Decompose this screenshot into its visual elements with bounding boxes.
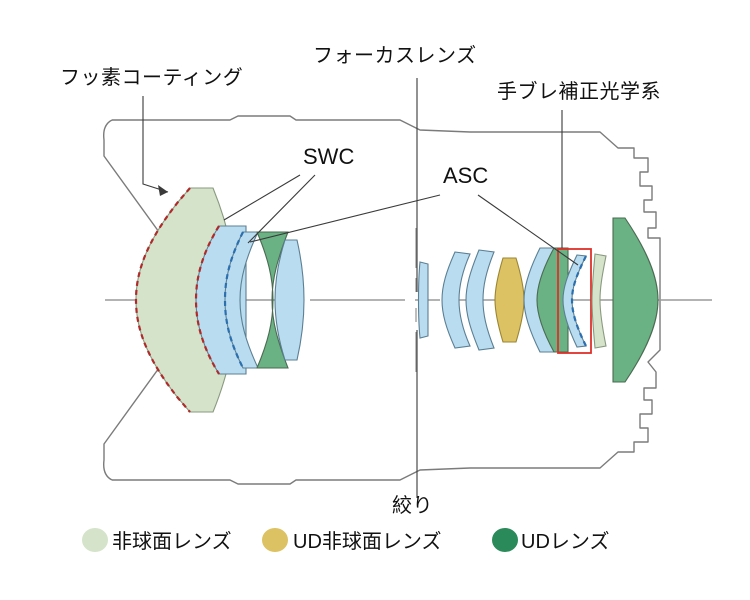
leader-fluorine [143,96,168,192]
legend-label-aspherical: 非球面レンズ [112,530,232,553]
lens-cross-section-svg: フッ素コーティング フォーカスレンズ 手ブレ補正光学系 SWC ASC 絞り 非… [0,0,750,600]
legend-item-aspherical: 非球面レンズ [82,528,232,553]
arrowhead-fluorine [158,185,168,196]
label-is-optics: 手ブレ補正光学系 [497,79,661,103]
label-swc: SWC [303,144,354,169]
legend-item-ud-aspherical: UD非球面レンズ [262,528,442,553]
leader-swc-1 [224,175,300,220]
lens-diagram-canvas: フッ素コーティング フォーカスレンズ 手ブレ補正光学系 SWC ASC 絞り 非… [0,0,750,600]
legend-label-ud: UDレンズ [521,530,610,553]
label-aperture: 絞り [392,494,433,517]
element-rear-8-aspherical [592,254,606,348]
legend-swatch-ud-aspherical [262,528,288,552]
label-focus-lens: フォーカスレンズ [313,44,477,67]
label-fluorine-coating: フッ素コーティング [60,66,243,89]
legend-swatch-aspherical [82,528,108,552]
legend-item-ud: UDレンズ [492,528,610,553]
label-asc: ASC [443,163,488,188]
leader-asc-1 [250,195,440,242]
element-rear-4-ud-aspherical [495,258,524,342]
legend: 非球面レンズ UD非球面レンズ UDレンズ [82,528,610,553]
legend-swatch-ud [492,528,518,552]
element-rear-1 [419,262,429,338]
element-rear-9-ud [613,218,658,382]
legend-label-ud-aspherical: UD非球面レンズ [293,530,442,553]
